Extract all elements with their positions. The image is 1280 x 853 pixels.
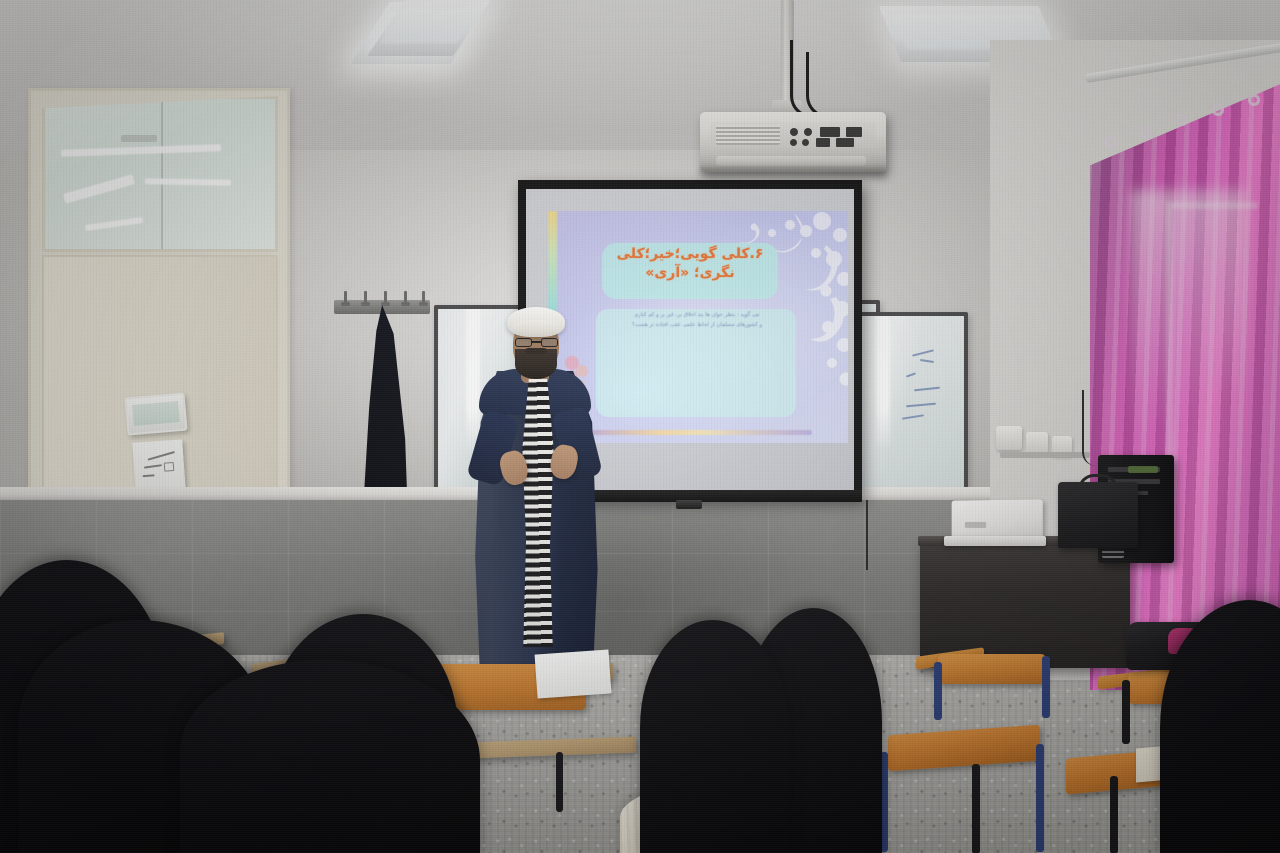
lecturer	[455, 305, 615, 695]
projector-cable-2	[806, 52, 844, 118]
projector-shadow	[700, 168, 886, 180]
screen-pull-knob[interactable]	[676, 500, 702, 509]
classroom-photo: ۶.کلی گویی؛خیر؛کلی نگری؛ «آری» می گوید :…	[0, 0, 1280, 853]
slide-title-line2: نگری؛ «آری»	[602, 264, 778, 283]
chair-leg-2a	[1110, 776, 1118, 853]
curtain-grommet-3	[1176, 114, 1188, 126]
student-center-1	[640, 620, 790, 853]
wall-switch-plate-2[interactable]	[1026, 432, 1048, 454]
slide-body-text: می گوید : بنظر حوان ها بند اخلاق بر، غیر…	[604, 311, 790, 330]
screen-pull-wire	[866, 500, 868, 570]
curtain-grommet-5	[1248, 94, 1260, 106]
curtain-grommet-1	[1104, 136, 1116, 148]
pc-green-label	[1128, 466, 1158, 473]
chair-leg-1c	[1036, 744, 1044, 852]
chair-back-1	[938, 654, 1046, 684]
lecturer-turban	[507, 307, 565, 337]
paper-on-desk-center	[535, 649, 612, 698]
chair-frame-2-left	[1122, 680, 1130, 744]
whiteboard-right	[852, 312, 968, 500]
wall-switch-plate-1[interactable]	[996, 426, 1022, 450]
laptop-keyboard-base[interactable]	[944, 536, 1046, 546]
curtain-grommet-2	[1140, 126, 1152, 138]
slide-title: ۶.کلی گویی؛خیر؛کلی نگری؛ «آری»	[602, 245, 778, 283]
laptop-bag	[1058, 482, 1138, 548]
chair-leg-1b	[972, 764, 980, 853]
desk-center-lower-leg	[556, 752, 563, 812]
chair-frame-1-right	[1042, 656, 1050, 718]
slide-body-line1: می گوید : بنظر حوان ها بند اخلاق بر، غیر…	[604, 311, 790, 321]
glasses-icon	[515, 338, 558, 347]
wall-dispenser-icon	[124, 392, 187, 435]
laptop-brand-logo	[965, 522, 986, 528]
slide-body-line2: و کشورهای مسلمان از لحاظ علمی عقب افتاده…	[604, 321, 790, 331]
chair-frame-1-left	[934, 662, 942, 720]
slide-title-line1: ۶.کلی گویی؛خیر؛کلی	[602, 245, 778, 264]
wall-conduit	[1000, 452, 1090, 458]
door-transom-window	[42, 96, 278, 252]
lecturer-mustache	[525, 348, 547, 354]
student-left-4	[180, 660, 480, 853]
laptop-screen[interactable]	[952, 499, 1043, 540]
curtain-grommet-4	[1212, 104, 1224, 116]
ceiling-projector	[700, 112, 886, 172]
